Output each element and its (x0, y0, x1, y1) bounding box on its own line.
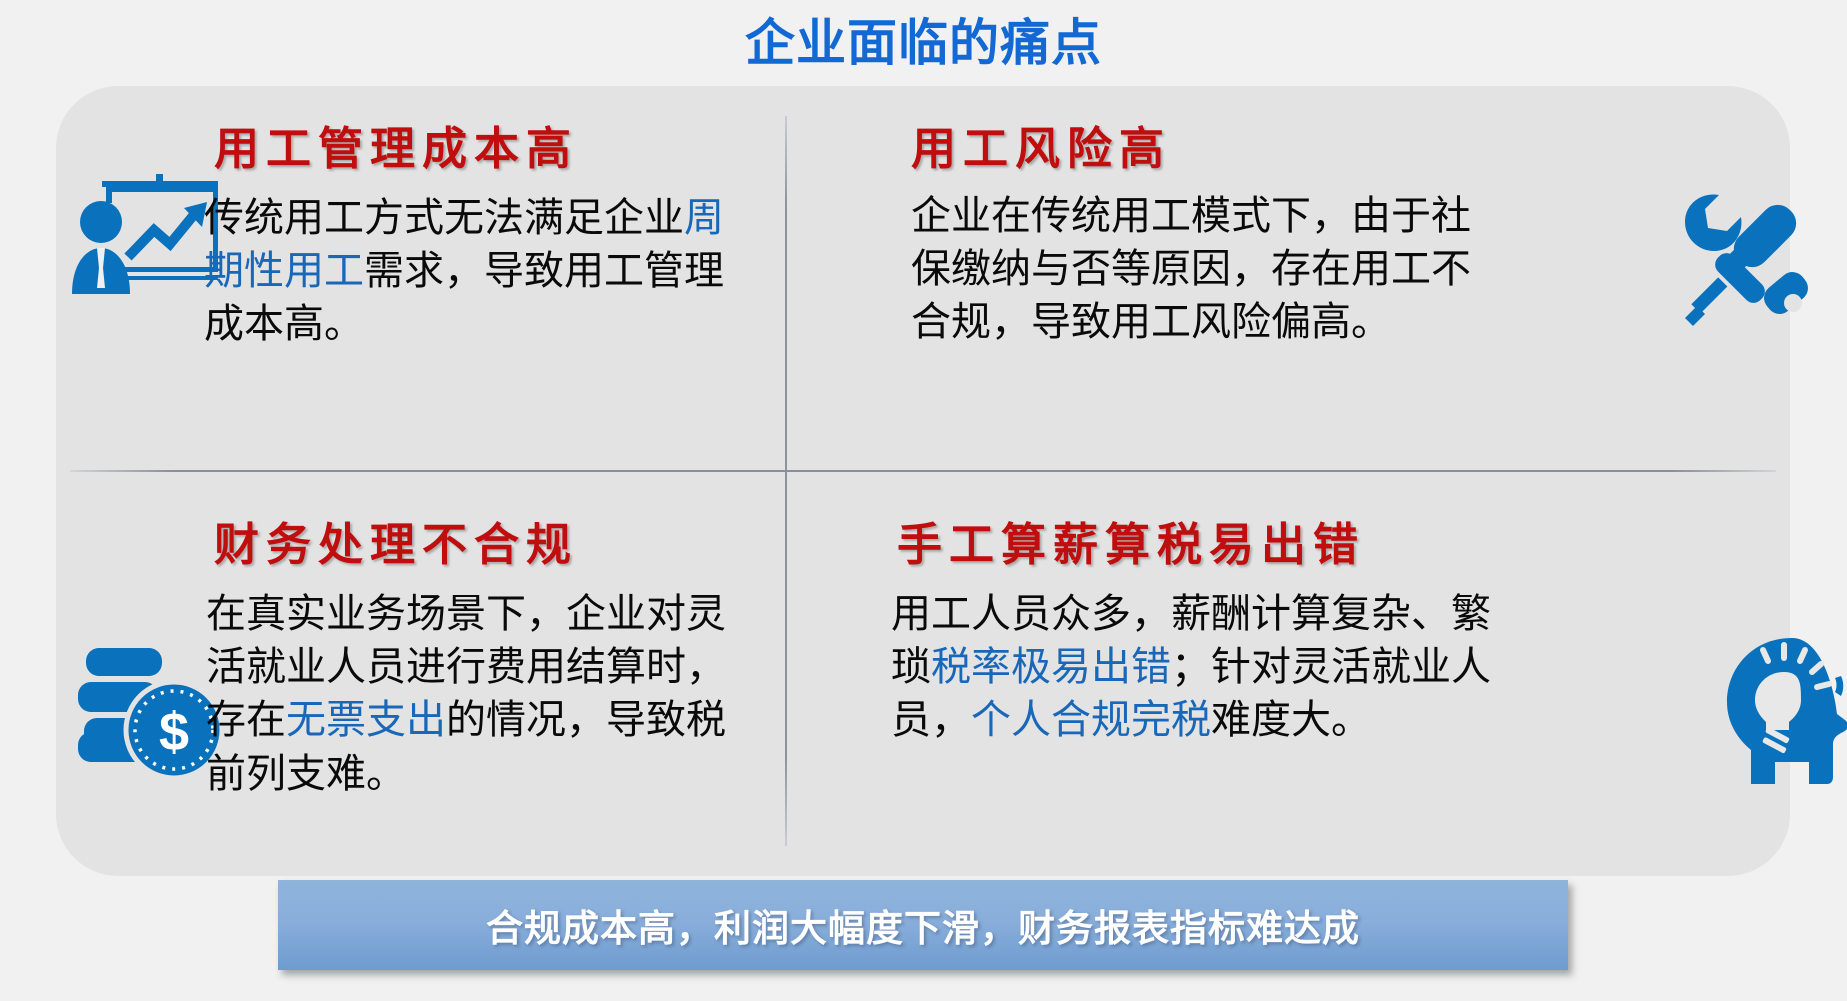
quadrant-finance-non-compliance: $ 财务处理不合规 在真实业务场景下，企业对灵活就业人员进行费用结算时，存在无票… (56, 472, 785, 876)
body-segment: 企业在传统用工模式下，由于社保缴纳与否等原因，存在用工不合规，导致用工风险偏高。 (911, 194, 1471, 344)
body-highlight: 个人合规完税 (971, 698, 1211, 742)
summary-banner-text: 合规成本高，利润大幅度下滑，财务报表指标难达成 (486, 898, 1360, 952)
quadrant-heading: 财务处理不合规 (214, 508, 578, 573)
svg-text:$: $ (159, 702, 189, 762)
quadrant-labor-risk: 用工风险高 企业在传统用工模式下，由于社保缴纳与否等原因，存在用工不合规，导致用… (787, 86, 1790, 470)
quadrant-body: 在真实业务场景下，企业对灵活就业人员进行费用结算时，存在无票支出的情况，导致税前… (206, 588, 746, 801)
quadrant-heading: 用工管理成本高 (214, 112, 578, 177)
quadrant-labor-management-cost: 用工管理成本高 传统用工方式无法满足企业周期性用工需求，导致用工管理成本高。 (56, 86, 785, 470)
quadrant-heading: 用工风险高 (911, 112, 1171, 177)
coin-stack-dollar-icon: $ (64, 642, 224, 797)
body-segment: 难度大。 (1211, 698, 1371, 742)
quadrant-manual-payroll-tax-errors: 手工算薪算税易出错 用工人员众多，薪酬计算复杂、繁琐税率极易出错；针对灵活就业人… (787, 472, 1790, 876)
quadrant-heading: 手工算薪算税易出错 (897, 508, 1365, 573)
body-highlight: 无票支出 (286, 698, 446, 742)
head-lightbulb-icon (1717, 632, 1847, 787)
summary-banner: 合规成本高，利润大幅度下滑，财务报表指标难达成 (278, 880, 1568, 970)
body-highlight: 税率极易出错 (931, 645, 1171, 689)
quadrant-body: 企业在传统用工模式下，由于社保缴纳与否等原因，存在用工不合规，导致用工风险偏高。 (911, 190, 1471, 350)
wrench-screwdriver-icon (1667, 186, 1817, 326)
page-title: 企业面临的痛点 (0, 8, 1847, 78)
quadrant-body: 传统用工方式无法满足企业周期性用工需求，导致用工管理成本高。 (204, 192, 744, 352)
presenter-chart-icon (66, 164, 226, 294)
body-segment: 传统用工方式无法满足企业 (204, 196, 684, 240)
pain-points-card: 用工管理成本高 传统用工方式无法满足企业周期性用工需求，导致用工管理成本高。 用… (56, 86, 1790, 876)
quadrant-body: 用工人员众多，薪酬计算复杂、繁琐税率极易出错；针对灵活就业人员，个人合规完税难度… (891, 588, 1511, 748)
